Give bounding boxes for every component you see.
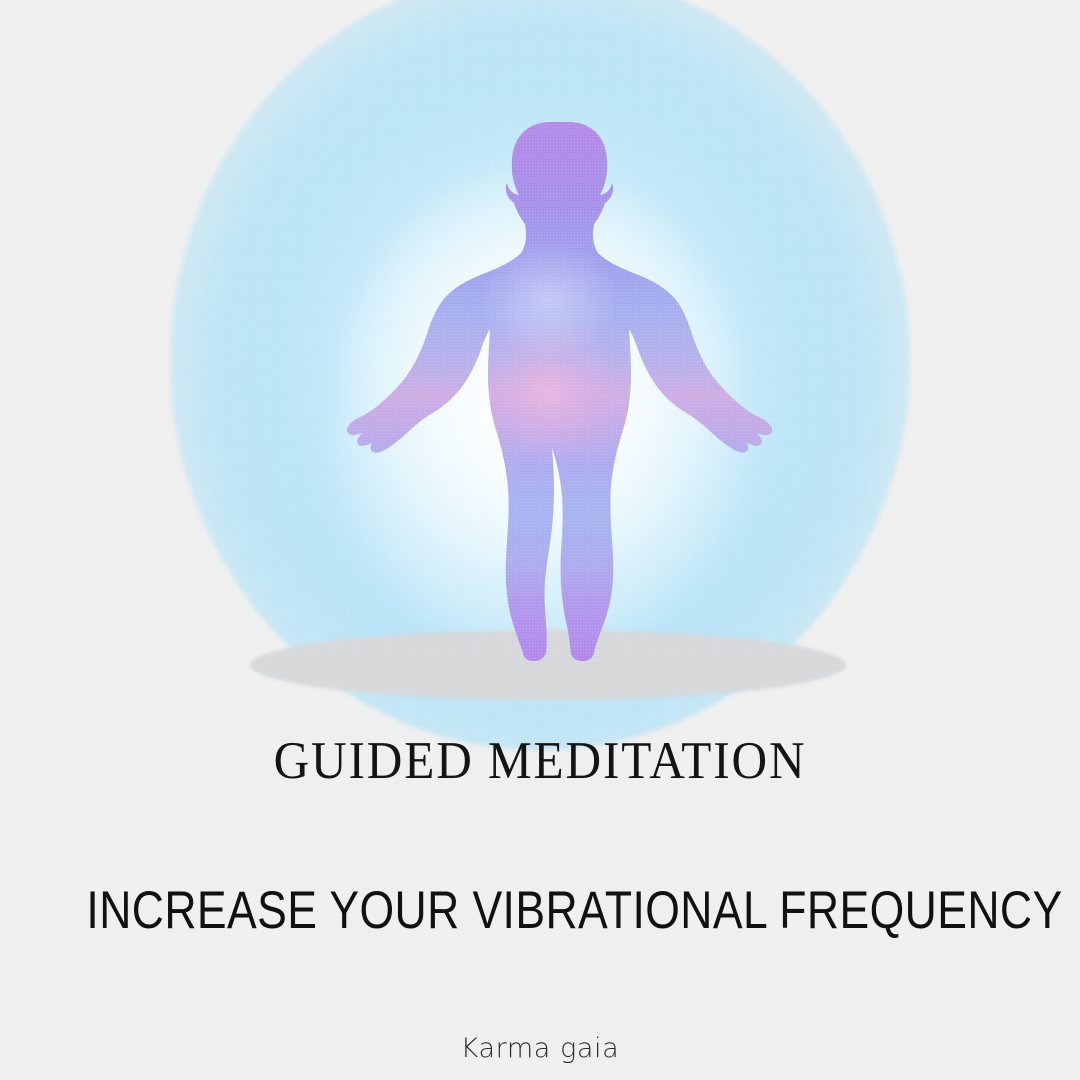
poster-subtitle: INCREASE YOUR VIBRATIONAL FREQUENCY (86, 884, 993, 937)
meditation-poster: GUIDED MEDITATION INCREASE YOUR VIBRATIO… (0, 0, 1080, 1080)
poster-text-block: GUIDED MEDITATION INCREASE YOUR VIBRATIO… (0, 735, 1080, 1062)
aura-glow-core (330, 180, 750, 650)
floor-shadow-ellipse (250, 630, 846, 700)
poster-title: GUIDED MEDITATION (38, 735, 1042, 788)
brand-signature: Karma gaia (0, 1035, 1080, 1062)
